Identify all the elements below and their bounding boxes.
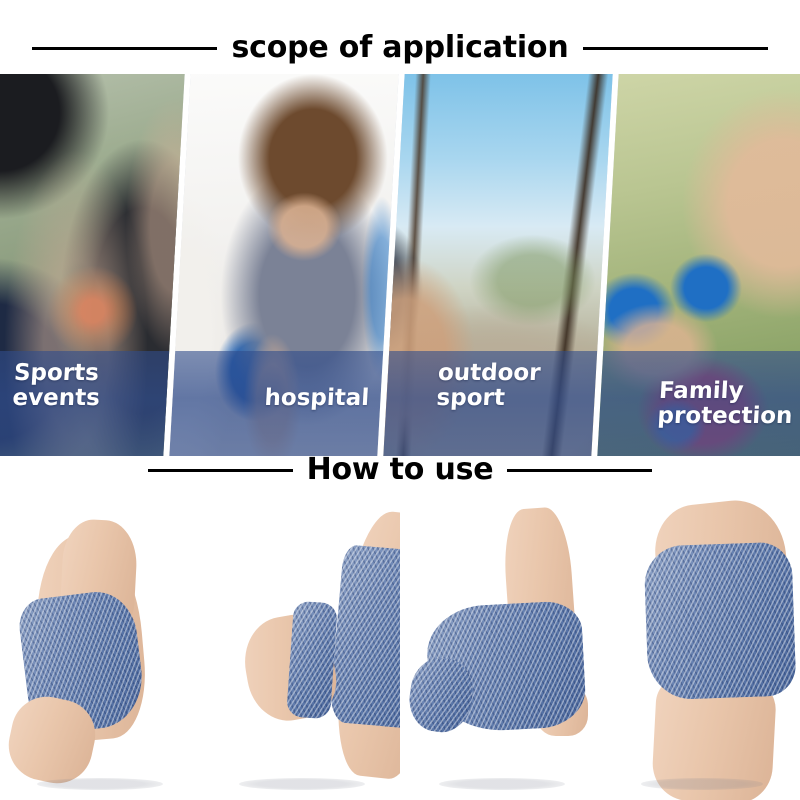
howto-step-4[interactable] xyxy=(606,498,798,800)
heading-rule-left xyxy=(32,47,217,50)
ankle-wrap-photo xyxy=(404,498,600,800)
page-title: scope of application xyxy=(217,33,582,63)
howto-section-heading: How to use xyxy=(0,455,800,485)
scope-panel-sports-events[interactable]: Sports events xyxy=(0,74,185,456)
drop-shadow xyxy=(439,778,564,790)
scope-panel-strip: Sports events hospital outdoor sport Fam… xyxy=(0,88,800,442)
panel-label-sports-events: Sports events xyxy=(12,361,169,413)
panel-label-hospital: hospital xyxy=(264,386,370,412)
howto-step-row xyxy=(0,498,800,800)
howto-step-3[interactable] xyxy=(404,498,600,800)
forearm-wrap-photo xyxy=(204,498,400,800)
drop-shadow xyxy=(641,778,764,790)
drop-shadow xyxy=(37,778,162,790)
scope-panel-family-protection[interactable]: Family protection xyxy=(597,74,800,456)
heading-rule-left xyxy=(148,469,293,472)
heading-rule-right xyxy=(507,469,652,472)
scope-panel-hospital[interactable]: hospital xyxy=(169,74,398,456)
wrist-wrap-photo xyxy=(2,498,198,800)
drop-shadow xyxy=(239,778,364,790)
heading-rule-right xyxy=(583,47,768,50)
howto-step-1[interactable] xyxy=(2,498,198,800)
panel-label-outdoor-sport: outdoor sport xyxy=(436,361,597,413)
bandage-wrap xyxy=(328,544,400,730)
panel-label-family-protection: Family protection xyxy=(657,379,800,431)
howto-title: How to use xyxy=(293,455,508,485)
bandage-wrap xyxy=(643,541,796,700)
bandage-roll xyxy=(286,601,338,720)
product-infographic: scope of application Sports events hospi… xyxy=(0,0,800,800)
knee-wrap-photo xyxy=(606,498,798,800)
scope-panel-outdoor-sport[interactable]: outdoor sport xyxy=(383,74,612,456)
howto-step-2[interactable] xyxy=(204,498,400,800)
scope-section-heading: scope of application xyxy=(0,33,800,63)
